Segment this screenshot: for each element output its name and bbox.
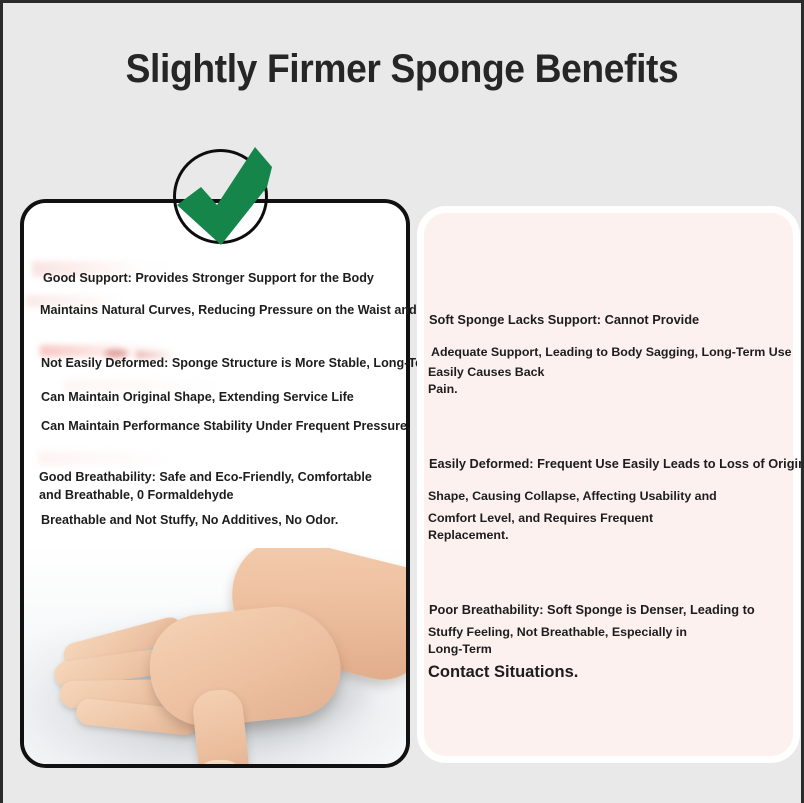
benefit-2-line-2: Can Maintain Performance Stability Under… [41,418,411,436]
green-check-circle-icon [173,149,268,244]
page-title: Slightly Firmer Sponge Benefits [31,47,773,92]
drawback-2-line-1: Shape, Causing Collapse, Affecting Usabi… [428,488,717,505]
firm-sponge-benefits-card: Good Support: Provides Stronger Support … [20,199,410,768]
drawback-3-line-2: Long-Term [428,641,492,658]
pink-smudge-artifact [38,451,198,465]
benefit-3-heading: Good Breathability: Safe and Eco-Friendl… [39,469,391,505]
drawback-3-line-3: Contact Situations. [428,661,578,684]
drawback-2-line-3: Replacement. [428,527,509,544]
benefit-1-heading: Good Support: Provides Stronger Support … [43,270,374,288]
benefit-2-line-1: Can Maintain Original Shape, Extending S… [41,389,354,407]
hand-pressing-foam-photo [24,548,406,764]
drawback-2-heading: Easily Deformed: Frequent Use Easily Lea… [429,455,801,473]
drawback-1-line-1: Adequate Support, Leading to Body Saggin… [431,344,791,361]
drawback-3-heading: Poor Breathability: Soft Sponge is Dense… [429,601,755,619]
benefit-2-heading: Not Easily Deformed: Sponge Structure is… [41,355,465,373]
benefit-3-line-1: Breathable and Not Stuffy, No Additives,… [41,512,338,530]
checkmark-glyph-icon [171,143,279,247]
drawback-1-heading: Soft Sponge Lacks Support: Cannot Provid… [429,311,699,329]
benefit-1-line-1: Maintains Natural Curves, Reducing Press… [40,302,450,320]
drawback-3-line-1: Stuffy Feeling, Not Breathable, Especial… [428,624,687,641]
drawback-1-line-3: Pain. [428,381,458,398]
drawback-2-line-2: Comfort Level, and Requires Frequent [428,510,653,527]
drawback-1-line-2: Easily Causes Back [428,364,544,381]
poster-canvas: Slightly Firmer Sponge Benefits [3,3,801,803]
